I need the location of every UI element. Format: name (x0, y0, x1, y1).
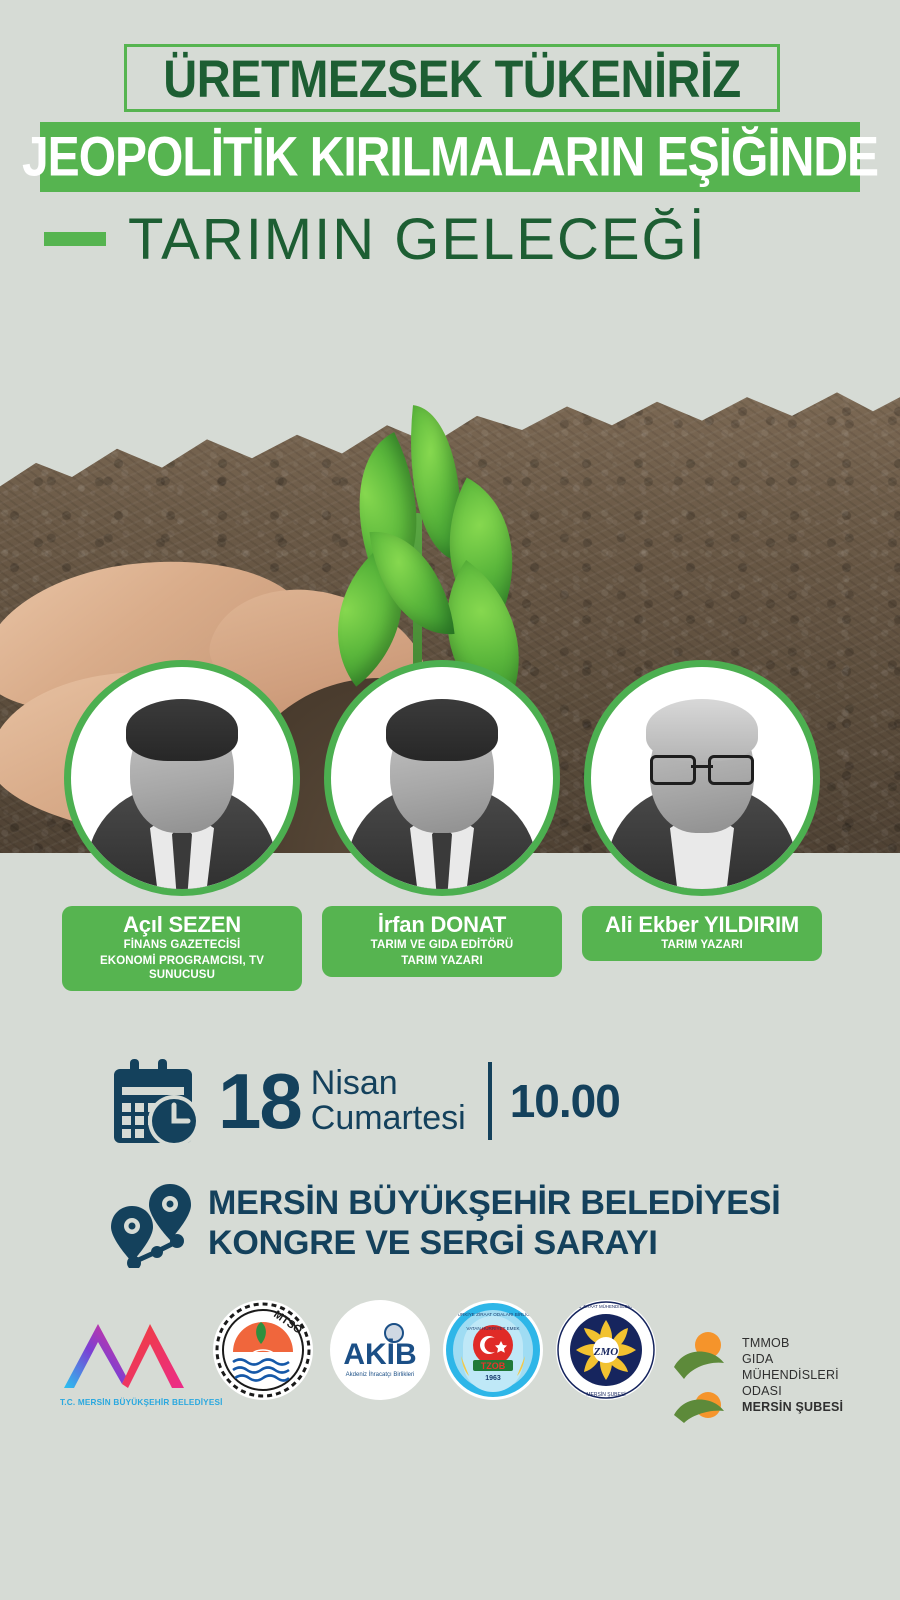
logo-caption: T.C. MERSİN BÜYÜKŞEHİR BELEDİYESİ (60, 1398, 210, 1407)
speakers-section: Açıl SEZEN FİNANS GAZETECİSİ EKONOMİ PRO… (0, 660, 900, 980)
speaker-name: İrfan DONAT (330, 913, 554, 936)
svg-text:TÜRKİYE ZİRAAT ODALARI BİRLİĞİ: TÜRKİYE ZİRAAT ODALARI BİRLİĞİ (455, 1311, 531, 1317)
svg-text:MERSİN ŞUBESİ: MERSİN ŞUBESİ (586, 1391, 625, 1398)
avatar-hair (386, 699, 498, 761)
avatar (324, 660, 560, 896)
speaker-title-line1: FİNANS GAZETECİSİ (70, 938, 294, 952)
avatar-hair (126, 699, 238, 761)
logo-tzob: TZOB 1963 TÜRKİYE ZİRAAT ODALARI BİRLİĞİ… (443, 1300, 548, 1450)
speaker-title-line2: TARIM YAZARI (330, 954, 554, 968)
poster-header: ÜRETMEZSEK TÜKENİRİZ JEOPOLİTİK KIRILMAL… (0, 0, 900, 300)
speaker-name: Ali Ekber YILDIRIM (590, 913, 814, 936)
tmmob-line-2: GIDA (742, 1351, 843, 1367)
tmmob-line-4: ODASI (742, 1383, 843, 1399)
logo-mtso: 1886 MTSO (213, 1300, 318, 1450)
avatar-hair (646, 699, 758, 761)
speaker-title-line2: EKONOMİ PROGRAMCISI, TV SUNUCUSU (70, 954, 294, 982)
logo-zmo: ZMO TMMOB ZİRAAT MÜHENDİSLERİ ODASI MERS… (556, 1300, 661, 1450)
headline-secondary: JEOPOLİTİK KIRILMALARIN EŞİĞİNDE (22, 125, 878, 189)
headline-box-secondary: JEOPOLİTİK KIRILMALARIN EŞİĞİNDE (40, 122, 860, 192)
headline-box-primary: ÜRETMEZSEK TÜKENİRİZ (124, 44, 780, 112)
event-month: Nisan (311, 1066, 466, 1101)
tmmob-line-3: MÜHENDİSLERİ (742, 1367, 843, 1383)
speaker-nameplate: Açıl SEZEN FİNANS GAZETECİSİ EKONOMİ PRO… (62, 906, 302, 991)
speaker-card: İrfan DONAT TARIM VE GIDA EDİTÖRÜ TARIM … (322, 660, 562, 977)
logo-akib: AKİB Akdeniz İhracatçı Birlikleri (330, 1300, 435, 1450)
tmmob-line-5: MERSİN ŞUBESİ (742, 1399, 843, 1415)
speaker-card: Ali Ekber YILDIRIM TARIM YAZARI (582, 660, 822, 961)
event-venue: MERSİN BÜYÜKŞEHİR BELEDİYESİ KONGRE VE S… (0, 1168, 900, 1278)
event-day: 18 (218, 1066, 301, 1136)
tmmob-line-1: TMMOB (742, 1335, 843, 1351)
glasses-icon (650, 755, 754, 781)
event-time: 10.00 (510, 1074, 620, 1128)
logo-mersin-buyuksehir-belediyesi: T.C. MERSİN BÜYÜKŞEHİR BELEDİYESİ (60, 1300, 210, 1450)
logo-tmmob-gida: TMMOB GIDA MÜHENDİSLERİ ODASI MERSİN ŞUB… (672, 1300, 852, 1450)
location-pin-icon (108, 1178, 194, 1268)
speaker-title-line1: TARIM VE GIDA EDİTÖRÜ (330, 938, 554, 952)
poster-root: ÜRETMEZSEK TÜKENİRİZ JEOPOLİTİK KIRILMAL… (0, 0, 900, 1600)
mersin-m-mark-icon (60, 1314, 188, 1392)
venue-line-2: KONGRE VE SERGİ SARAYI (208, 1223, 780, 1263)
glasses-bridge-icon (691, 765, 713, 768)
tmmob-leaf-icon (672, 1327, 734, 1423)
sponsor-logos: T.C. MERSİN BÜYÜKŞEHİR BELEDİYESİ 1886 (0, 1300, 900, 1450)
svg-text:ZMO: ZMO (593, 1346, 619, 1358)
avatar (584, 660, 820, 896)
speaker-name: Açıl SEZEN (70, 913, 294, 936)
speaker-title-line1: TARIM YAZARI (590, 938, 814, 952)
speaker-card: Açıl SEZEN FİNANS GAZETECİSİ EKONOMİ PRO… (62, 660, 302, 991)
venue-line-1: MERSİN BÜYÜKŞEHİR BELEDİYESİ (208, 1183, 780, 1223)
calendar-clock-icon (108, 1055, 204, 1147)
event-weekday: Cumartesi (311, 1101, 466, 1136)
svg-text:TMMOB ZİRAAT MÜHENDİSLERİ ODAS: TMMOB ZİRAAT MÜHENDİSLERİ ODASI (565, 1304, 647, 1309)
event-datetime: 18 Nisan Cumartesi 10.00 (0, 1046, 900, 1156)
speaker-nameplate: Ali Ekber YILDIRIM TARIM YAZARI (582, 906, 822, 961)
dash-accent-icon (44, 232, 106, 246)
avatar (64, 660, 300, 896)
svg-text:TZOB: TZOB (481, 1361, 506, 1371)
svg-text:1963: 1963 (485, 1375, 501, 1382)
svg-text:VATAN HÜRRİYET EMEK: VATAN HÜRRİYET EMEK (466, 1325, 520, 1331)
svg-text:AKİB: AKİB (343, 1338, 416, 1371)
headline-primary: ÜRETMEZSEK TÜKENİRİZ (163, 47, 741, 109)
svg-text:Akdeniz İhracatçı Birlikleri: Akdeniz İhracatçı Birlikleri (346, 1371, 415, 1378)
speaker-nameplate: İrfan DONAT TARIM VE GIDA EDİTÖRÜ TARIM … (322, 906, 562, 977)
datetime-divider (488, 1062, 492, 1140)
headline-tertiary: TARIMIN GELECEĞİ (128, 206, 707, 273)
